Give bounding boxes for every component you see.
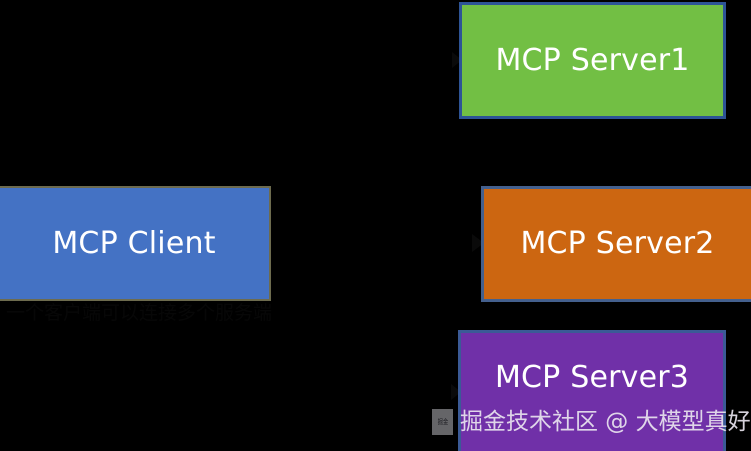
node-mcp-server3-label: MCP Server3 xyxy=(495,363,689,393)
node-mcp-server1-label: MCP Server1 xyxy=(495,46,689,76)
connector-client-server1 xyxy=(275,55,452,248)
watermark-logo-icon: 掘金 xyxy=(432,409,453,435)
arrowheads-overlay xyxy=(256,52,484,400)
node-mcp-server2[interactable]: MCP Server2 xyxy=(481,186,751,302)
connector-client-server3 xyxy=(275,243,451,397)
node-mcp-server2-label: MCP Server2 xyxy=(520,229,714,259)
node-mcp-client[interactable]: MCP Client xyxy=(0,186,271,301)
watermark: 掘金 掘金技术社区 @ 大模型真好玩 xyxy=(432,404,751,440)
watermark-logo-text: 掘金 xyxy=(437,419,448,426)
diagram-canvas: MCP Server1 MCP Client MCP Server2 MCP S… xyxy=(0,0,751,451)
faint-caption: 一个客户端可以连接多个服务端 xyxy=(6,303,272,324)
watermark-text: 掘金技术社区 @ 大模型真好玩 xyxy=(460,411,751,434)
node-mcp-client-label: MCP Client xyxy=(52,229,215,259)
node-mcp-server1[interactable]: MCP Server1 xyxy=(459,2,726,119)
connector-client-server2 xyxy=(275,238,474,248)
